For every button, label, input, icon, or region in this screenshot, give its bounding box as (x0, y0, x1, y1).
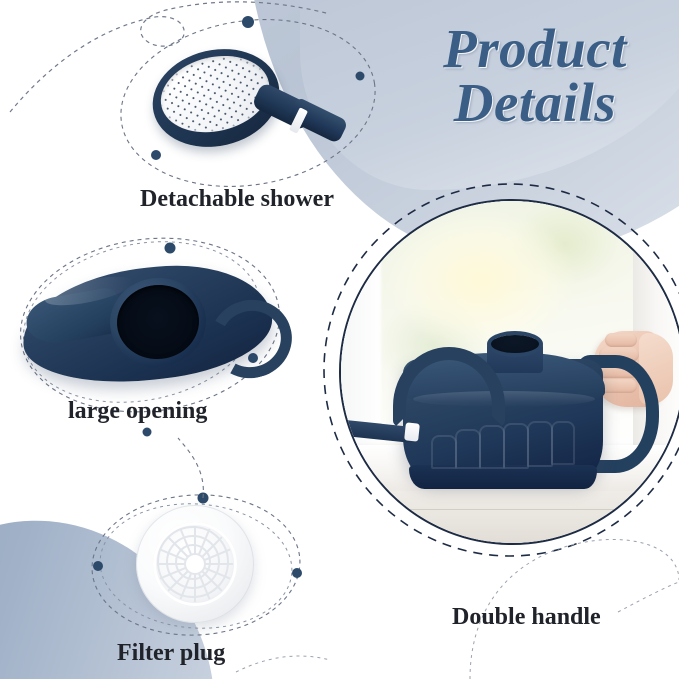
can-embossed-pattern (431, 417, 571, 469)
page-title-line-1: Product (443, 18, 627, 79)
feature-label-detachable-shower: Detachable shower (140, 186, 334, 213)
can-opening-hole (113, 281, 202, 363)
filter-disc-icon (136, 505, 256, 625)
shower-head-icon (150, 46, 350, 161)
marker-dot (356, 72, 365, 81)
page-title-line-2: Details (404, 76, 666, 130)
feature-label-filter-plug: Filter plug (117, 640, 225, 667)
marker-dot (143, 428, 152, 437)
photo-scene (339, 199, 679, 545)
counter-surface (339, 491, 679, 545)
page-title: Product Details (404, 22, 666, 130)
window-left-frame (339, 199, 383, 455)
filter-disc-hub (186, 555, 204, 573)
marker-dot (93, 561, 103, 571)
infographic-canvas: Product Details Detachable shower large … (0, 0, 679, 679)
marker-dot (242, 16, 254, 28)
marker-dot (292, 568, 302, 578)
watering-can-photo (339, 199, 679, 545)
marker-dot (165, 243, 176, 254)
can-mouth (491, 335, 539, 353)
watering-can (379, 317, 649, 497)
can-opening-icon (22, 262, 280, 390)
feature-label-double-handle: Double handle (452, 604, 601, 631)
can-spout-collar (404, 422, 420, 441)
feature-label-large-opening: large opening (68, 398, 207, 425)
